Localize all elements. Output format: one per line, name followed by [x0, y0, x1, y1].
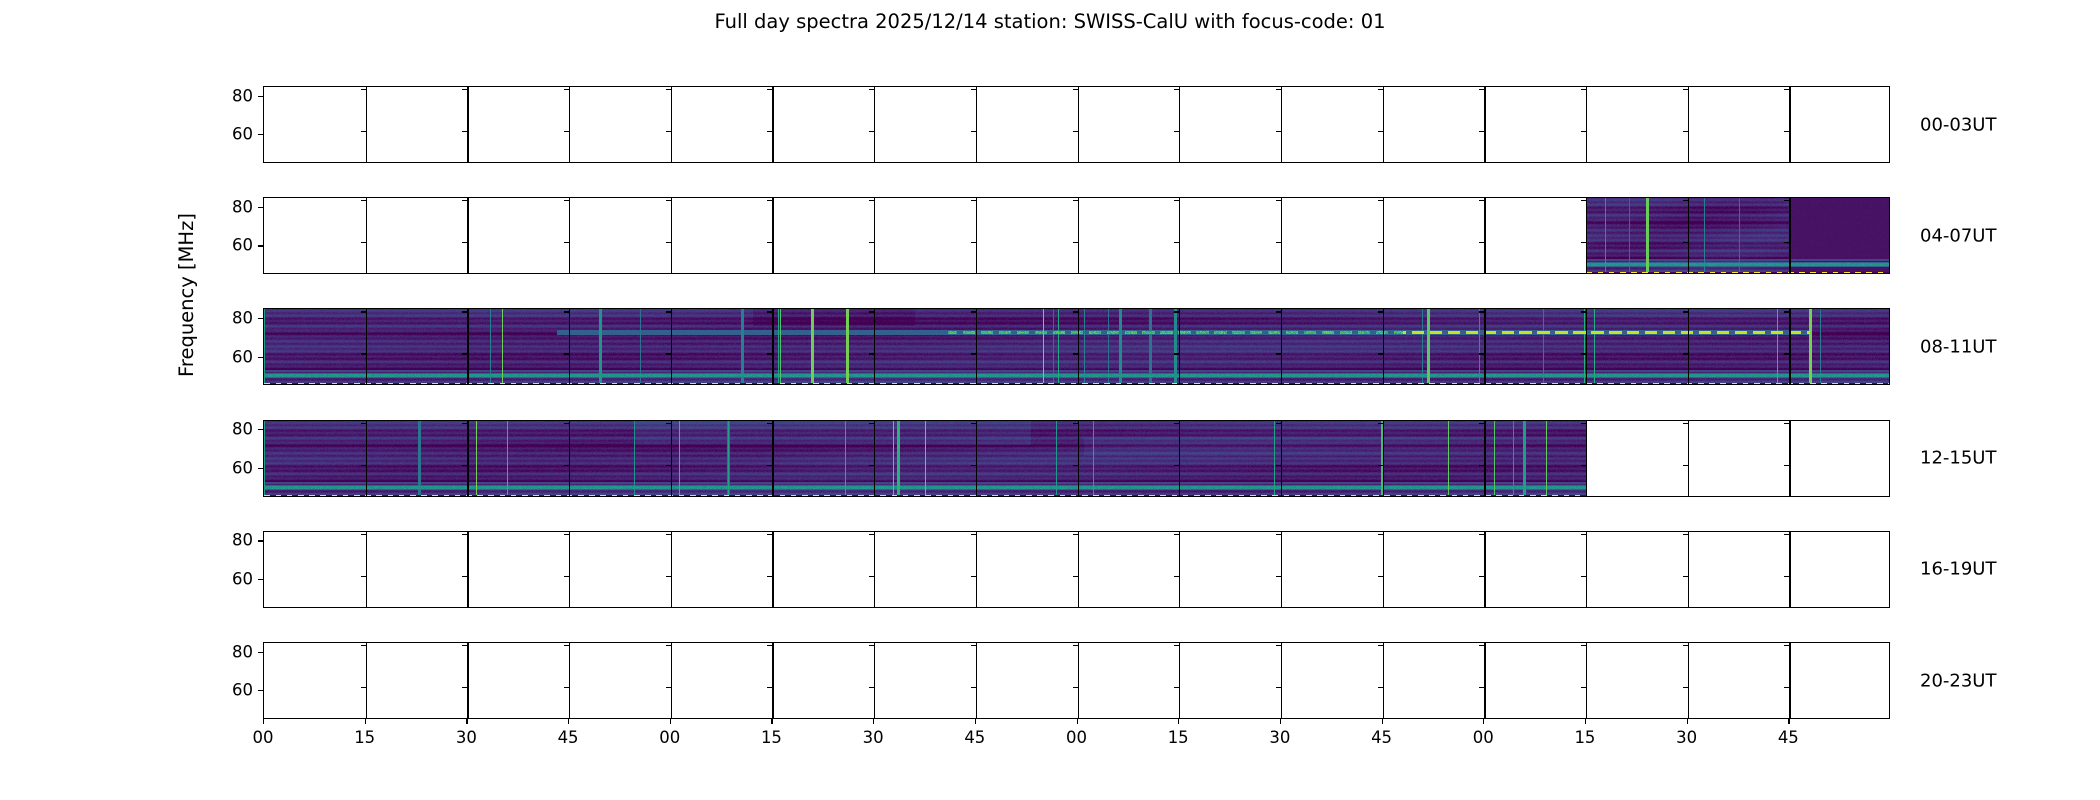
panel-tick [1378, 242, 1383, 243]
row-plot-area [263, 531, 1890, 608]
panel-separator [1383, 87, 1384, 163]
panel-tick [1479, 423, 1484, 424]
panel-tick [1073, 89, 1078, 90]
panel-tick [971, 311, 976, 312]
y-tick-label: 60 [232, 125, 253, 144]
x-tick-label: 45 [1371, 728, 1392, 747]
panel-tick [564, 200, 569, 201]
panel-separator [1383, 198, 1384, 274]
panel-separator [874, 198, 875, 274]
y-tick-mark [258, 207, 263, 208]
panel-tick [462, 465, 467, 466]
x-tick-label: 30 [1269, 728, 1290, 747]
panel-separator [976, 643, 977, 719]
panel-tick [1174, 311, 1179, 312]
panel-tick [1276, 534, 1281, 535]
panel-tick [1784, 465, 1789, 466]
panel-separator [1383, 309, 1384, 385]
panel-tick [1378, 131, 1383, 132]
panel-tick [869, 687, 874, 688]
panel-separator [467, 198, 468, 274]
panel-tick [767, 242, 772, 243]
panel-tick [666, 645, 671, 646]
panel-separator [772, 421, 773, 497]
panel-separator [569, 643, 570, 719]
panel-separator [874, 532, 875, 608]
panel-tick [1479, 242, 1484, 243]
panel-tick [666, 311, 671, 312]
y-tick-mark [258, 245, 263, 246]
y-tick-mark [258, 96, 263, 97]
panel-separator [1281, 198, 1282, 274]
panel-separator [772, 87, 773, 163]
panel-separator [1179, 198, 1180, 274]
panel-tick [1378, 311, 1383, 312]
panel-separator [1484, 309, 1486, 385]
panel-tick [1479, 311, 1484, 312]
panel-tick [971, 131, 976, 132]
panel-separator [1484, 198, 1486, 274]
panel-tick [1276, 576, 1281, 577]
panel-tick [1073, 687, 1078, 688]
panel-tick [564, 465, 569, 466]
panel-separator [671, 309, 673, 385]
panel-tick [1174, 353, 1179, 354]
panel-separator [1383, 643, 1384, 719]
spectrogram-row-04-07ut [263, 197, 1890, 274]
row-plot-area [263, 642, 1890, 719]
panel-tick [462, 131, 467, 132]
panel-tick [462, 534, 467, 535]
panel-tick [1378, 534, 1383, 535]
panel-separator [1484, 87, 1486, 163]
x-tick-label: 15 [761, 728, 782, 747]
panel-tick [666, 353, 671, 354]
panel-tick [767, 576, 772, 577]
y-tick-label: 80 [232, 531, 253, 550]
panel-tick [869, 534, 874, 535]
panel-tick [767, 89, 772, 90]
x-tick-label: 00 [253, 728, 274, 747]
panel-tick [564, 687, 569, 688]
panel-tick [666, 242, 671, 243]
panel-tick [1784, 200, 1789, 201]
panel-tick [1174, 465, 1179, 466]
panel-tick [462, 687, 467, 688]
panel-tick [564, 131, 569, 132]
panel-separator [1484, 643, 1486, 719]
panel-tick [1174, 687, 1179, 688]
panel-tick [1073, 311, 1078, 312]
panel-tick [564, 353, 569, 354]
panel-separator [1383, 532, 1384, 608]
panel-tick [564, 645, 569, 646]
panel-separator [671, 198, 673, 274]
panel-tick [564, 576, 569, 577]
panel-tick [971, 353, 976, 354]
y-tick-mark [258, 690, 263, 691]
panel-tick [1479, 576, 1484, 577]
panel-tick [1581, 576, 1586, 577]
panel-tick [1378, 576, 1383, 577]
panel-tick [564, 242, 569, 243]
panel-tick [767, 353, 772, 354]
x-tick-mark [568, 719, 569, 724]
panel-separator [1281, 421, 1282, 497]
panel-tick [361, 131, 366, 132]
panel-tick [1378, 423, 1383, 424]
x-tick-label: 00 [659, 728, 680, 747]
panel-tick [361, 645, 366, 646]
x-tick-mark [466, 719, 467, 724]
panel-tick [1479, 534, 1484, 535]
panel-tick [1581, 131, 1586, 132]
panel-tick [1581, 465, 1586, 466]
y-tick-label: 60 [232, 347, 253, 366]
spectrogram-data [264, 421, 1586, 497]
panel-tick [1174, 534, 1179, 535]
panel-tick [971, 89, 976, 90]
panel-tick [1073, 465, 1078, 466]
x-tick-mark [670, 719, 671, 724]
panel-tick [971, 687, 976, 688]
panel-separator [1078, 643, 1080, 719]
panel-separator [772, 198, 773, 274]
y-tick-label: 80 [232, 86, 253, 105]
row-time-label: 20-23UT [1920, 670, 1996, 691]
panel-tick [564, 311, 569, 312]
panel-separator [467, 421, 468, 497]
panel-separator [772, 532, 773, 608]
y-tick-mark [258, 357, 263, 358]
y-tick-label: 60 [232, 569, 253, 588]
y-tick-label: 60 [232, 236, 253, 255]
panel-separator [1688, 421, 1689, 497]
panel-tick [1378, 89, 1383, 90]
y-tick-mark [258, 652, 263, 653]
panel-tick [1581, 242, 1586, 243]
panel-tick [1073, 423, 1078, 424]
panel-tick [462, 423, 467, 424]
y-tick-label: 80 [232, 309, 253, 328]
panel-tick [767, 311, 772, 312]
panel-tick [869, 200, 874, 201]
panel-tick [767, 534, 772, 535]
panel-tick [1479, 200, 1484, 201]
panel-separator [1484, 532, 1486, 608]
panel-tick [869, 423, 874, 424]
panel-tick [1581, 89, 1586, 90]
panel-separator [569, 309, 570, 385]
y-tick-mark [258, 579, 263, 580]
panel-separator [1383, 421, 1384, 497]
panel-tick [971, 423, 976, 424]
panel-separator [1484, 421, 1486, 497]
panel-separator [976, 532, 977, 608]
x-tick-label: 15 [1168, 728, 1189, 747]
x-tick-mark [1585, 719, 1586, 724]
panel-separator [1281, 87, 1282, 163]
panel-tick [1174, 242, 1179, 243]
panel-separator [874, 643, 875, 719]
spectrogram-row-12-15ut [263, 420, 1890, 497]
panel-separator [1789, 643, 1790, 719]
panel-tick [767, 131, 772, 132]
panel-tick [1683, 423, 1688, 424]
panel-tick [462, 311, 467, 312]
panel-separator [1179, 309, 1180, 385]
panel-tick [869, 242, 874, 243]
panel-tick [1784, 576, 1789, 577]
panel-tick [462, 353, 467, 354]
x-tick-label: 00 [1473, 728, 1494, 747]
panel-tick [1683, 687, 1688, 688]
spectrogram-figure: Full day spectra 2025/12/14 station: SWI… [0, 0, 2100, 800]
spectrogram-row-08-11ut [263, 308, 1890, 385]
panel-tick [1276, 131, 1281, 132]
panel-tick [1174, 131, 1179, 132]
x-tick-label: 15 [354, 728, 375, 747]
panel-tick [971, 200, 976, 201]
x-tick-label: 30 [863, 728, 884, 747]
row-time-label: 16-19UT [1920, 559, 1996, 580]
y-tick-mark [258, 134, 263, 135]
panel-tick [1479, 687, 1484, 688]
row-plot-area [263, 86, 1890, 163]
panel-tick [1378, 465, 1383, 466]
panel-separator [1179, 421, 1180, 497]
panel-tick [869, 311, 874, 312]
page-title: Full day spectra 2025/12/14 station: SWI… [0, 10, 2100, 33]
panel-tick [1784, 534, 1789, 535]
panel-separator [671, 87, 673, 163]
panel-tick [666, 687, 671, 688]
panel-separator [366, 87, 367, 163]
panel-tick [1581, 687, 1586, 688]
panel-separator [1688, 309, 1689, 385]
panel-tick [666, 200, 671, 201]
panel-tick [767, 687, 772, 688]
panel-separator [874, 87, 875, 163]
row-plot-area [263, 420, 1890, 497]
panel-separator [1281, 532, 1282, 608]
panel-tick [1276, 465, 1281, 466]
panel-tick [361, 465, 366, 466]
x-tick-mark [1077, 719, 1078, 724]
panel-tick [1174, 645, 1179, 646]
panel-tick [361, 242, 366, 243]
row-plot-area [263, 197, 1890, 274]
y-tick-mark [258, 540, 263, 541]
x-tick-mark [1280, 719, 1281, 724]
panel-separator [1078, 87, 1080, 163]
panel-tick [361, 423, 366, 424]
x-tick-mark [263, 719, 264, 724]
spectrogram-row-00-03ut [263, 86, 1890, 163]
panel-separator [1688, 87, 1689, 163]
panel-separator [772, 309, 773, 385]
panel-tick [1276, 311, 1281, 312]
panel-separator [772, 643, 773, 719]
panel-separator [1789, 421, 1790, 497]
x-tick-label: 15 [1574, 728, 1595, 747]
panel-tick [361, 311, 366, 312]
panel-tick [1784, 131, 1789, 132]
panel-tick [1479, 645, 1484, 646]
panel-tick [1276, 423, 1281, 424]
panel-separator [1281, 309, 1282, 385]
panel-separator [467, 532, 468, 608]
panel-tick [462, 645, 467, 646]
x-tick-mark [975, 719, 976, 724]
panel-tick [666, 465, 671, 466]
panel-separator [1688, 643, 1689, 719]
panel-tick [869, 353, 874, 354]
panel-tick [1784, 353, 1789, 354]
panel-tick [1784, 311, 1789, 312]
panel-tick [1276, 353, 1281, 354]
row-plot-area [263, 308, 1890, 385]
panel-tick [361, 576, 366, 577]
x-tick-label: 45 [558, 728, 579, 747]
panel-tick [361, 89, 366, 90]
panel-tick [462, 89, 467, 90]
panel-tick [1378, 687, 1383, 688]
spectrogram-canvas [1586, 198, 1890, 274]
panel-separator [1179, 643, 1180, 719]
y-tick-label: 60 [232, 458, 253, 477]
panel-tick [971, 465, 976, 466]
panel-separator [569, 198, 570, 274]
panel-tick [1683, 534, 1688, 535]
row-time-label: 04-07UT [1920, 225, 1996, 246]
x-tick-mark [365, 719, 366, 724]
panel-tick [666, 89, 671, 90]
panel-separator [366, 532, 367, 608]
panel-tick [767, 423, 772, 424]
panel-separator [1179, 532, 1180, 608]
panel-tick [1073, 242, 1078, 243]
panel-tick [1479, 465, 1484, 466]
panel-tick [971, 645, 976, 646]
panel-separator [366, 421, 367, 497]
x-tick-label: 45 [964, 728, 985, 747]
panel-separator [976, 198, 977, 274]
panel-tick [869, 131, 874, 132]
panel-separator [467, 87, 468, 163]
panel-separator [671, 532, 673, 608]
panel-tick [1683, 465, 1688, 466]
panel-separator [1586, 87, 1587, 163]
panel-tick [1683, 242, 1688, 243]
panel-tick [1378, 645, 1383, 646]
row-time-label: 08-11UT [1920, 336, 1996, 357]
panel-separator [874, 309, 875, 385]
panel-tick [1784, 687, 1789, 688]
panel-tick [1073, 353, 1078, 354]
panel-separator [874, 421, 875, 497]
y-tick-mark [258, 318, 263, 319]
panel-tick [1174, 576, 1179, 577]
panel-tick [869, 465, 874, 466]
panel-separator [1586, 198, 1587, 274]
x-tick-label: 30 [1676, 728, 1697, 747]
y-tick-label: 80 [232, 420, 253, 439]
panel-tick [1683, 645, 1688, 646]
panel-separator [569, 87, 570, 163]
panel-separator [1586, 309, 1587, 385]
x-tick-mark [1788, 719, 1789, 724]
panel-separator [366, 643, 367, 719]
panel-tick [1581, 200, 1586, 201]
panel-tick [1784, 423, 1789, 424]
panel-separator [1078, 309, 1080, 385]
panel-tick [666, 534, 671, 535]
panel-separator [1586, 532, 1587, 608]
panel-tick [1073, 131, 1078, 132]
panel-tick [1174, 89, 1179, 90]
panel-tick [869, 576, 874, 577]
panel-tick [767, 465, 772, 466]
panel-tick [564, 534, 569, 535]
x-tick-mark [1483, 719, 1484, 724]
panel-tick [564, 423, 569, 424]
panel-tick [1581, 353, 1586, 354]
panel-separator [467, 643, 468, 719]
panel-separator [1586, 421, 1587, 497]
panel-separator [976, 87, 977, 163]
panel-separator [1078, 198, 1080, 274]
panel-separator [1179, 87, 1180, 163]
panel-tick [869, 645, 874, 646]
y-tick-label: 60 [232, 681, 253, 700]
panel-tick [1683, 89, 1688, 90]
panel-tick [1276, 200, 1281, 201]
panel-tick [1683, 131, 1688, 132]
panel-tick [1683, 200, 1688, 201]
y-axis-label-text: Frequency [MHz] [175, 195, 198, 395]
panel-tick [869, 89, 874, 90]
panel-tick [1784, 242, 1789, 243]
panel-separator [1078, 421, 1080, 497]
panel-separator [671, 421, 673, 497]
panel-separator [1688, 198, 1689, 274]
panel-tick [666, 576, 671, 577]
x-tick-label: 30 [456, 728, 477, 747]
panel-tick [1581, 534, 1586, 535]
panel-tick [1479, 131, 1484, 132]
row-time-label: 12-15UT [1920, 448, 1996, 469]
panel-tick [971, 242, 976, 243]
panel-tick [564, 89, 569, 90]
panel-tick [1683, 353, 1688, 354]
panel-tick [462, 242, 467, 243]
x-tick-mark [1382, 719, 1383, 724]
spectrogram-data [1586, 198, 1890, 274]
panel-separator [1281, 643, 1282, 719]
panel-tick [1683, 311, 1688, 312]
panel-separator [1586, 643, 1587, 719]
x-tick-label: 45 [1778, 728, 1799, 747]
panel-separator [976, 421, 977, 497]
panel-tick [1683, 576, 1688, 577]
panel-tick [666, 131, 671, 132]
panel-tick [1378, 200, 1383, 201]
y-tick-mark [258, 468, 263, 469]
panel-separator [569, 532, 570, 608]
panel-tick [1276, 687, 1281, 688]
panel-tick [666, 423, 671, 424]
